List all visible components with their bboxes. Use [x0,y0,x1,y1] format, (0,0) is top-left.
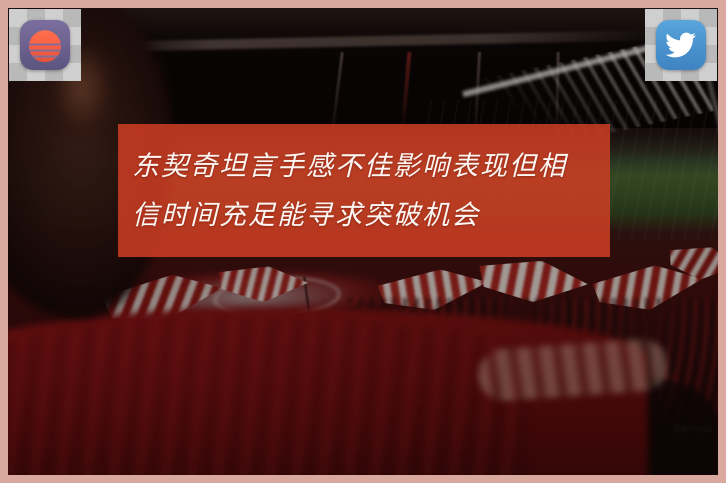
sunset-app-icon-badge[interactable] [9,9,81,81]
photo-frame: Barrisul Barrisul 东契奇坦言手感不佳影响表现但相 信时间充足能… [8,8,718,475]
twitter-app-icon-badge[interactable] [645,9,717,81]
twitter-icon[interactable] [656,20,706,70]
caption-line-2: 信时间充足能寻求突破机会 [132,191,596,240]
caption-line-1: 东契奇坦言手感不佳影响表现但相 [132,142,596,191]
sun-stripes [29,30,61,62]
sunset-icon[interactable] [20,20,70,70]
caption-banner: 东契奇坦言手感不佳影响表现但相 信时间充足能寻求突破机会 [118,124,610,257]
screenshot-root: Barrisul Barrisul 东契奇坦言手感不佳影响表现但相 信时间充足能… [0,0,726,483]
